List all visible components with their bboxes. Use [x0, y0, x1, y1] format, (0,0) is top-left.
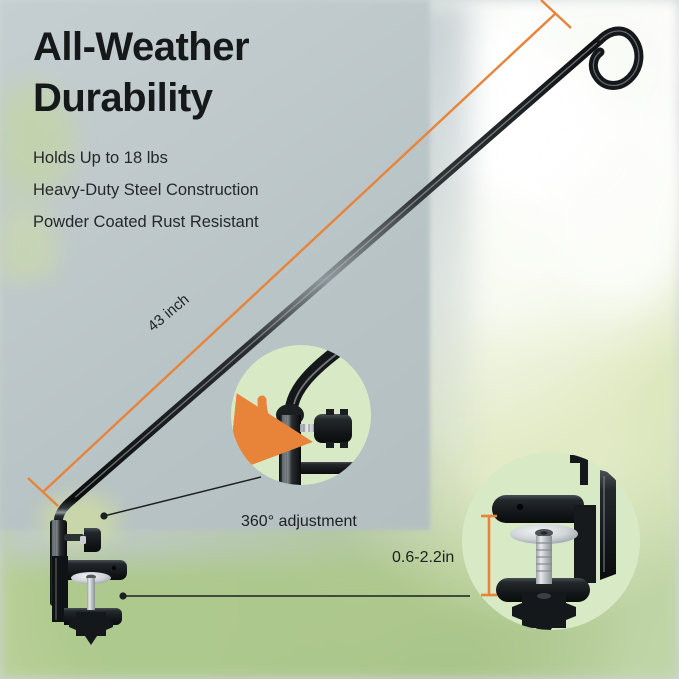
rotation-label: 360° adjustment: [241, 513, 357, 531]
c-clamp: [52, 556, 127, 645]
clamp-range-label: 0.6-2.2in: [392, 549, 454, 567]
leader-dot-rotation: [100, 512, 107, 519]
s-hook: [593, 31, 639, 86]
callout-rotation: [231, 345, 371, 490]
leader-dot-clamp: [119, 592, 126, 599]
pivot-knob: [64, 528, 101, 552]
product-image: All-Weather Durability Holds Up to 18 lb…: [0, 0, 679, 679]
leader-lines: [100, 477, 470, 600]
product-illustration: [0, 0, 679, 679]
callout-clamp: [462, 452, 640, 640]
leader-line-rotation: [104, 477, 261, 516]
